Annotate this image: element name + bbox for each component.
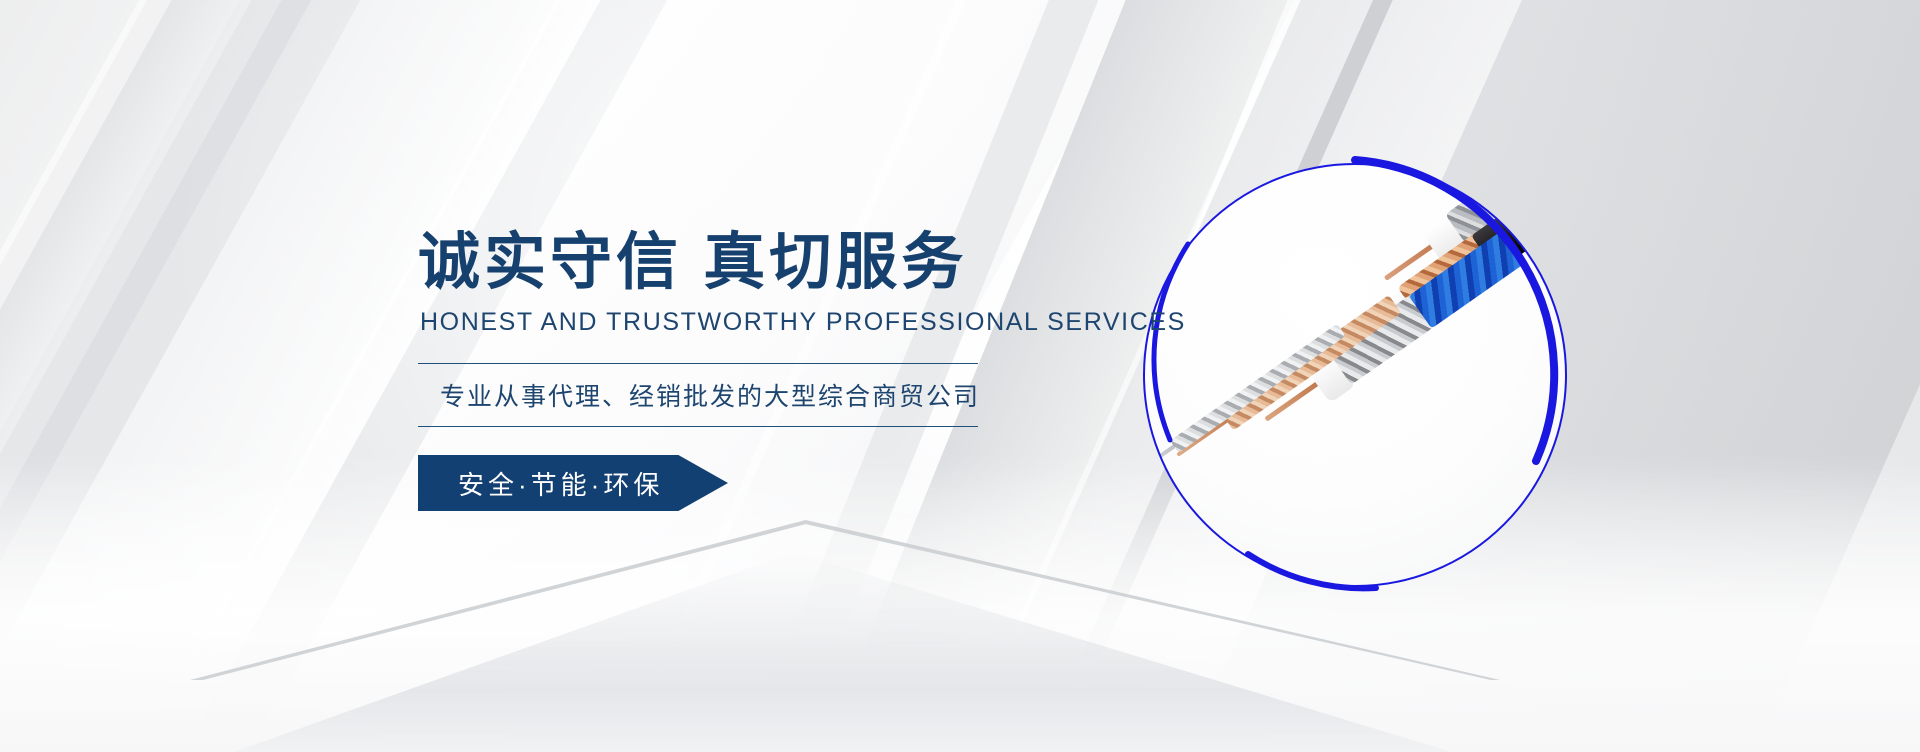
banner-subline-rules: 专业从事代理、经销批发的大型综合商贸公司 — [418, 363, 978, 427]
hero-banner: 诚实守信 真切服务 HONEST AND TRUSTWORTHY PROFESS… — [0, 0, 1920, 752]
banner-badge-label: 安全·节能·环保 — [418, 465, 663, 502]
banner-badge: 安全·节能·环保 — [418, 455, 728, 511]
circle-ring-decoration — [1130, 150, 1580, 600]
banner-sub-line: 专业从事代理、经销批发的大型综合商贸公司 — [418, 377, 978, 413]
banner-english-subtitle: HONEST AND TRUSTWORTHY PROFESSIONAL SERV… — [420, 308, 1078, 337]
banner-headline: 诚实守信 真切服务 — [418, 232, 1078, 294]
banner-text-block: 诚实守信 真切服务 HONEST AND TRUSTWORTHY PROFESS… — [418, 232, 1078, 511]
product-image-circle — [1130, 150, 1580, 600]
